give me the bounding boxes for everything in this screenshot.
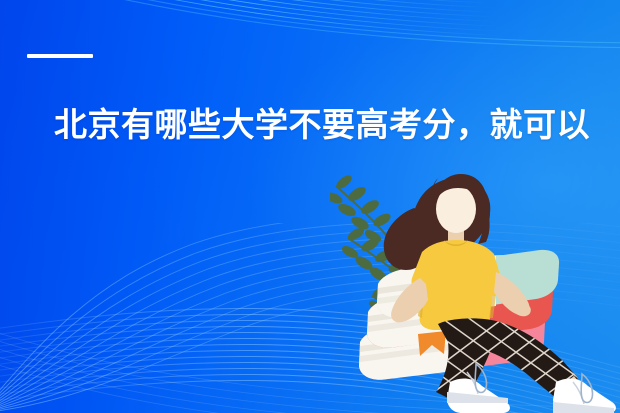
page-title: 北京有哪些大学不要高考分，就可以 — [54, 104, 574, 146]
banner-canvas: 北京有哪些大学不要高考分，就可以 — [0, 0, 620, 413]
woman-sitting-on-book-stack — [330, 146, 620, 413]
woman-figure — [381, 174, 620, 413]
top-right-line-arc — [0, 0, 620, 108]
title-rule — [27, 54, 93, 58]
sneaker-front — [553, 374, 616, 413]
